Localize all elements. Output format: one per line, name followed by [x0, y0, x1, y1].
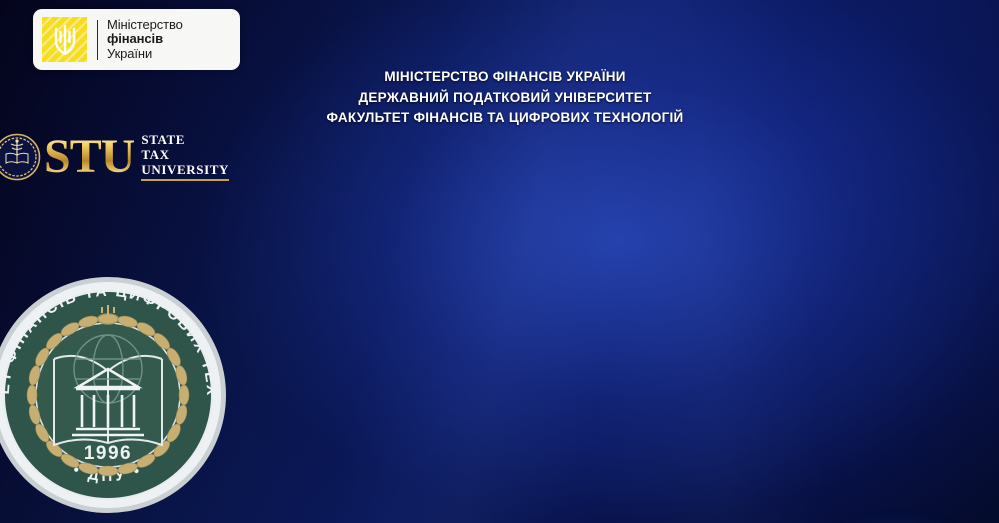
- ukraine-trident-icon: [42, 17, 87, 62]
- seal-year: 1996: [84, 443, 132, 464]
- stu-letters: STU: [44, 133, 134, 181]
- minfin-line-2: фінансів: [107, 32, 183, 47]
- stu-word-tax: TAX: [141, 147, 229, 162]
- stu-word-university: UNIVERSITY: [141, 162, 229, 177]
- invitation-poster: Міністерство фінансів України МІНІСТЕРСТ…: [0, 0, 999, 523]
- header-line-faculty: ФАКУЛЬТЕТ ФІНАНСІВ ТА ЦИФРОВИХ ТЕХНОЛОГІ…: [265, 108, 745, 129]
- header-line-university: ДЕРЖАВНИЙ ПОДАТКОВИЙ УНІВЕРСИТЕТ: [265, 88, 745, 109]
- stu-caduceus-emblem-icon: [0, 132, 42, 182]
- header-titles: МІНІСТЕРСТВО ФІНАНСІВ УКРАЇНИ ДЕРЖАВНИЙ …: [265, 67, 745, 129]
- stu-words: STATE TAX UNIVERSITY: [141, 132, 229, 181]
- faculty-seal-icon: ФАКУЛЬТЕТ ФІНАНСІВ ТА ЦИФРОВИХ ТЕХНОЛОГІ…: [0, 269, 234, 521]
- logo-divider: [97, 20, 98, 60]
- ministry-of-finance-logo: Міністерство фінансів України: [33, 9, 240, 70]
- stu-word-state: STATE: [141, 132, 229, 147]
- header-line-ministry: МІНІСТЕРСТВО ФІНАНСІВ УКРАЇНИ: [265, 67, 745, 88]
- state-tax-university-logo: STU STATE TAX UNIVERSITY: [0, 128, 991, 186]
- ministry-logo-text: Міністерство фінансів України: [107, 18, 183, 62]
- minfin-line-3: України: [107, 47, 183, 62]
- minfin-line-1: Міністерство: [107, 18, 183, 33]
